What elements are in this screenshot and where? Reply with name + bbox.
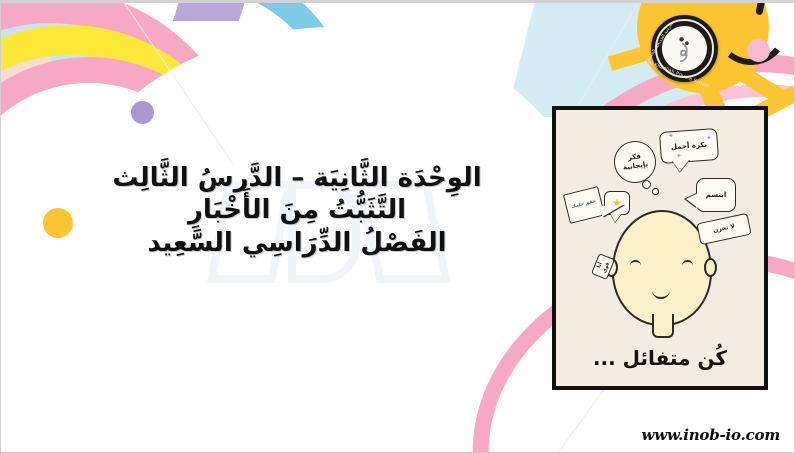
title-line-term: الفَصْلُ الدِّرَاسِي السَّعِيد: [47, 228, 547, 258]
eye-right-icon: [682, 260, 693, 270]
sparkle-icon: ✦: [706, 134, 712, 142]
bubble-text: حقق حلمك: [571, 199, 597, 212]
bubble-text: فكر بإيجابية: [616, 151, 654, 173]
neck-icon: [652, 314, 674, 338]
bubble-text: بكرة أجمل: [671, 140, 708, 151]
pink-dot-decoration: [747, 39, 770, 62]
illustration-card: بكرة أجمل ✦ ✦ ✦ فكر بإيجابية ابتسم لا تح…: [552, 106, 768, 390]
slide-title-block: الوِحْدَة الثَّانِيَة – الدَّرسُ الثَّال…: [47, 163, 547, 258]
bubble-tail-icon: [686, 193, 698, 208]
purple-dot-decoration: [131, 101, 154, 124]
title-line-topic: التَّثَبُّتُ مِنَ الأَخْبَارِ: [47, 195, 547, 225]
illustration-canvas: بكرة أجمل ✦ ✦ ✦ فكر بإيجابية ابتسم لا تح…: [556, 110, 764, 386]
illustration-caption: كُن متفائل ...: [556, 346, 764, 370]
bubble-text: أنا قوي: [594, 257, 612, 277]
ear-right-icon: [704, 258, 717, 277]
bubble-text: ابتسم: [706, 191, 727, 200]
bubble-smile: ابتسم: [696, 178, 736, 212]
title-line-unit-lesson: الوِحْدَة الثَّانِيَة – الدَّرسُ الثَّال…: [47, 163, 547, 193]
bubble-note: حقق حلمك: [563, 186, 605, 224]
thought-dot-icon: [652, 188, 659, 195]
eye-left-icon: [630, 260, 641, 270]
sparkle-icon: ✦: [676, 152, 682, 160]
presentation-slide: الوِحْدَة الثَّانِيَة – الدَّرسُ الثَّال…: [0, 0, 795, 453]
bubble-text: لا تحزن: [712, 223, 735, 235]
bubble-think-positive: فكر بإيجابية: [611, 138, 658, 185]
thought-dot-icon: [642, 180, 651, 189]
bubble-dont-be-sad: لا تحزن: [696, 213, 751, 245]
sparkle-icon: ✦: [668, 132, 674, 140]
bubble-tail-icon: [672, 159, 691, 172]
site-url-watermark: www.inob-io.com: [642, 426, 780, 444]
logo-latin-text: Al Khadijah Private School: [651, 15, 718, 82]
school-logo: مدرسة الخديجية الخاصة Al Khadijah Privat…: [651, 15, 718, 82]
